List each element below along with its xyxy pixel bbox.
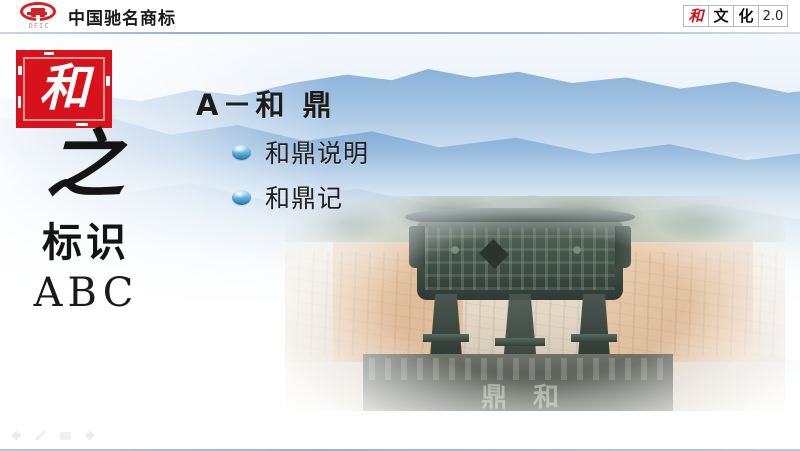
calligraphy-char-zhi: 之 <box>27 128 144 202</box>
screen-icon[interactable] <box>58 428 73 443</box>
page-header: DFIC 中国驰名商标 和 文 化 2.0 <box>0 0 800 33</box>
badge-cell-wen: 文 <box>708 5 733 27</box>
badge-cell-hua: 化 <box>733 5 758 27</box>
seal-notch <box>106 76 110 86</box>
brand-title: 中国驰名商标 <box>68 4 176 29</box>
hewenhua-version-badge: 和 文 化 2.0 <box>683 5 788 27</box>
forward-arrow-icon[interactable] <box>83 428 98 443</box>
toolbar-icon-group <box>8 428 98 443</box>
header-divider <box>0 32 800 34</box>
seal-notch <box>44 52 54 55</box>
bullet-item-1[interactable]: 和鼎说明 <box>232 134 369 170</box>
badge-cell-version: 2.0 <box>758 5 788 27</box>
logo-subtext: DFIC <box>18 22 60 30</box>
label-biaoshi: 标识 <box>16 223 156 263</box>
sphere-bullet-icon <box>232 190 251 205</box>
bullet-item-2[interactable]: 和鼎记 <box>232 179 369 215</box>
photo-soft-edge-vignette <box>285 196 785 411</box>
bullet-list: 和鼎说明 和鼎记 <box>232 134 369 215</box>
logo-bar-shape <box>27 12 47 15</box>
bullet-label[interactable]: 和鼎记 <box>265 179 343 215</box>
badge-cell-he: 和 <box>683 5 708 27</box>
bronze-ding-photo: 鼎 和 <box>285 196 785 411</box>
sphere-bullet-icon <box>232 145 251 160</box>
seal-notch <box>18 96 21 108</box>
presentation-slide: 鼎 和 和 之 标识 ABC A－和 鼎 和鼎说明 和鼎记 <box>0 0 800 451</box>
bullet-label[interactable]: 和鼎说明 <box>265 134 369 170</box>
pen-icon[interactable] <box>33 428 48 443</box>
brand-block: DFIC 中国驰名商标 <box>18 2 176 31</box>
back-arrow-icon[interactable] <box>8 428 23 443</box>
left-title-column: 和 之 标识 ABC <box>0 33 175 333</box>
dfic-logo-icon: DFIC <box>18 2 60 31</box>
slide-title: A－和 鼎 <box>196 82 336 124</box>
bottom-toolbar <box>0 420 800 451</box>
he-seal-stamp: 和 <box>18 52 110 126</box>
label-abc: ABC <box>16 273 156 313</box>
seal-notch <box>18 66 22 75</box>
seal-character: 和 <box>18 51 110 125</box>
